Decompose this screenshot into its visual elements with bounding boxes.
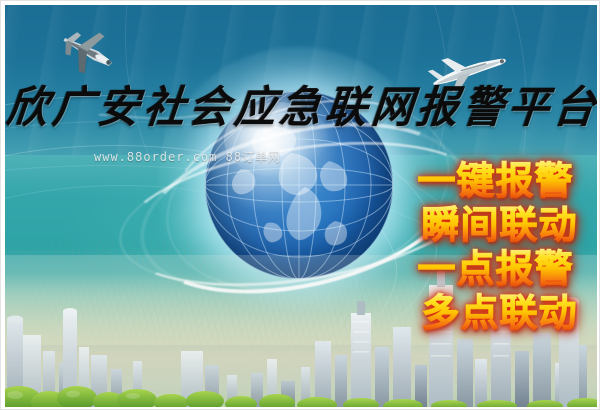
title-char: 广	[50, 85, 96, 128]
banner-artwork-frame: 欣 广 安 社 会 应 急 联 网 报 警 平 台 www.88order.co…	[5, 5, 597, 407]
page-title: 欣 广 安 社 会 应 急 联 网 报 警 平 台	[5, 81, 597, 133]
title-char: 平	[506, 85, 552, 128]
title-char: 安	[96, 85, 142, 128]
site-watermark: www.88order.com 88订单网	[94, 148, 281, 165]
title-char: 社	[141, 85, 187, 128]
title-char: 报	[415, 85, 461, 128]
promotional-banner: 欣 广 安 社 会 应 急 联 网 报 警 平 台 www.88order.co…	[0, 0, 600, 410]
slogan-line: 多点联动	[393, 292, 597, 334]
title-char: 台	[552, 85, 597, 128]
title-char: 警	[460, 85, 506, 128]
slogan-line: 一键报警	[393, 160, 597, 202]
tree-foliage-icon	[5, 371, 597, 407]
slogan-block: 一键报警 瞬间联动 一点报警 多点联动	[393, 160, 597, 334]
title-char: 会	[187, 85, 233, 128]
slogan-line: 瞬间联动	[393, 204, 597, 246]
title-char: 急	[278, 85, 324, 128]
title-char: 联	[324, 85, 370, 128]
title-char: 网	[369, 85, 415, 128]
fighter-jet-icon	[51, 23, 123, 81]
title-char: 应	[233, 85, 279, 128]
title-char: 欣	[5, 85, 50, 128]
slogan-line: 一点报警	[393, 248, 597, 290]
